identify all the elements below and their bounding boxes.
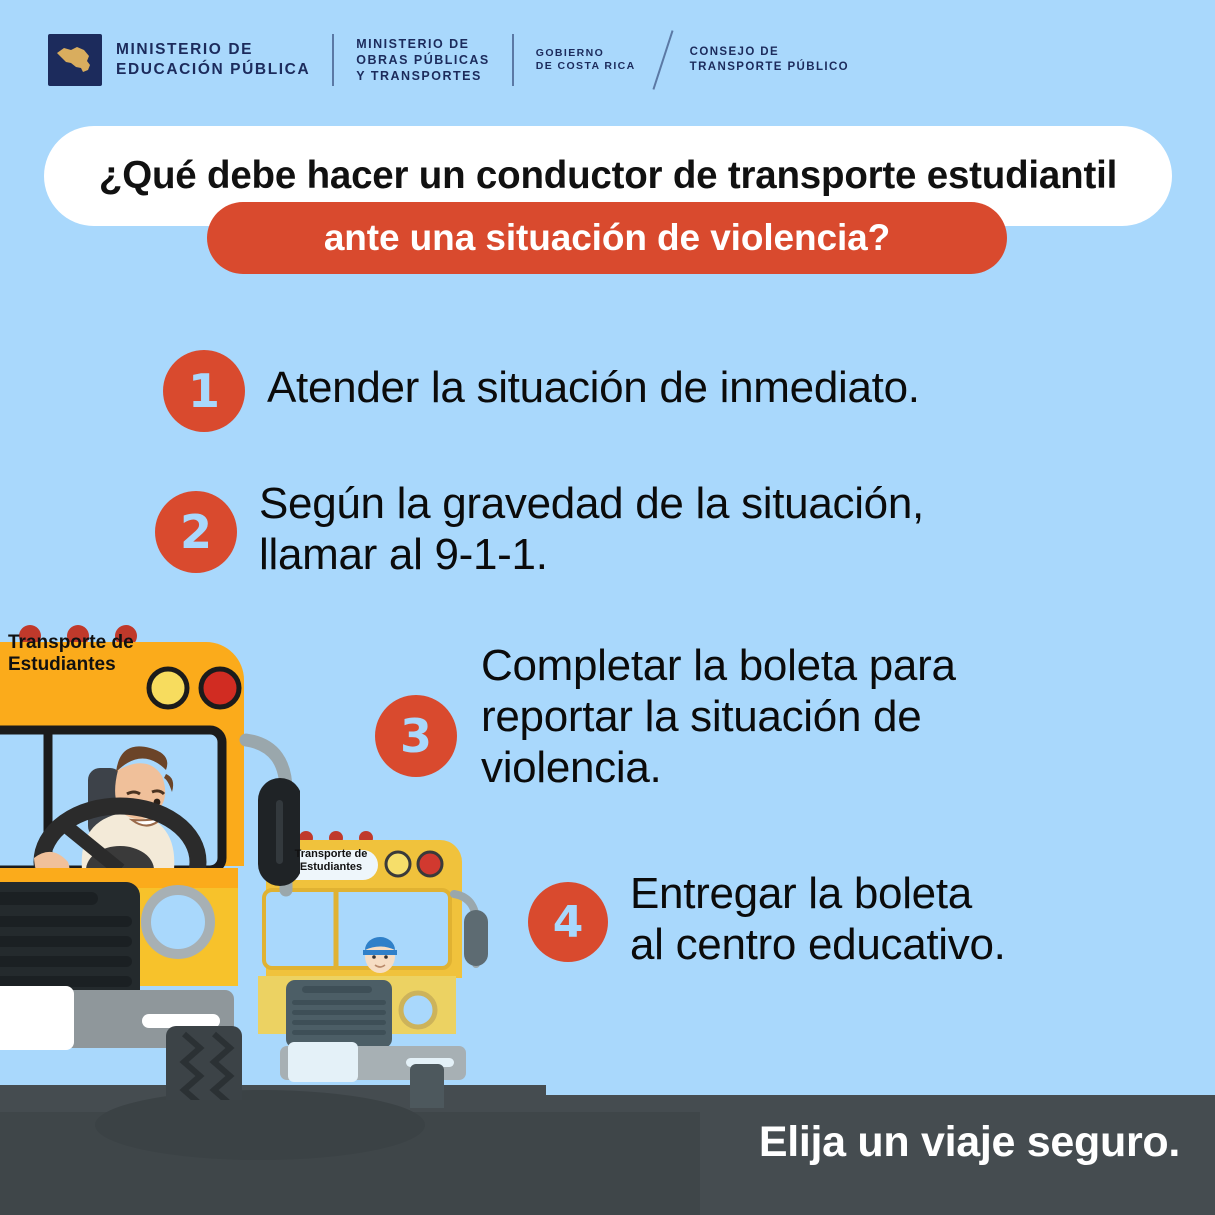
step-number-badge-1: 1 <box>163 350 245 432</box>
title-line-1: ¿Qué debe hacer un conductor de transpor… <box>99 154 1117 198</box>
costa-rica-map-icon <box>48 34 102 86</box>
step-item-1: 1 Atender la situación de inmediato. <box>163 350 920 432</box>
step-text-1: Atender la situación de inmediato. <box>267 362 920 413</box>
infographic-canvas: MINISTERIO DE EDUCACIÓN PÚBLICA MINISTER… <box>0 0 1215 1215</box>
bus-back-sign-text: Transporte de Estudiantes <box>272 848 390 874</box>
bus-front-wheel <box>166 1026 242 1100</box>
logo-divider-3 <box>652 30 673 90</box>
title-banner-red: ante una situación de violencia? <box>207 202 1007 274</box>
logo-label-ctp: CONSEJO DE TRANSPORTE PÚBLICO <box>690 45 849 74</box>
logo-label-gobierno: GOBIERNO DE COSTA RICA <box>536 47 636 74</box>
bus-primary <box>0 620 300 1100</box>
bus-illustration: Transporte de Estudiantes Transporte de … <box>0 600 620 1120</box>
logo-mopt: MINISTERIO DE OBRAS PÚBLICAS Y TRANSPORT… <box>356 36 490 84</box>
logo-divider-1 <box>332 34 334 86</box>
logo-gobierno-costa-rica: GOBIERNO DE COSTA RICA <box>536 47 636 74</box>
cr-map-svg <box>54 41 96 79</box>
title-line-2: ante una situación de violencia? <box>324 217 890 259</box>
logo-divider-2 <box>512 34 514 86</box>
logo-consejo-transporte-publico: CONSEJO DE TRANSPORTE PÚBLICO <box>690 45 849 74</box>
bus-front-sign-text: Transporte de Estudiantes <box>8 632 188 676</box>
step-number-badge-2: 2 <box>155 491 237 573</box>
logo-label-mopt: MINISTERIO DE OBRAS PÚBLICAS Y TRANSPORT… <box>356 36 490 84</box>
footer-tagline: Elija un viaje seguro. <box>0 1118 1180 1167</box>
logo-label-mep: MINISTERIO DE EDUCACIÓN PÚBLICA <box>116 40 310 80</box>
institutional-logo-bar: MINISTERIO DE EDUCACIÓN PÚBLICA MINISTER… <box>0 0 1215 120</box>
step-item-2: 2 Según la gravedad de la situación, lla… <box>155 478 924 580</box>
logo-ministerio-educacion-publica: MINISTERIO DE EDUCACIÓN PÚBLICA <box>48 34 310 86</box>
step-text-4: Entregar la boleta al centro educativo. <box>630 868 1006 970</box>
step-text-2: Según la gravedad de la situación, llama… <box>259 478 924 580</box>
